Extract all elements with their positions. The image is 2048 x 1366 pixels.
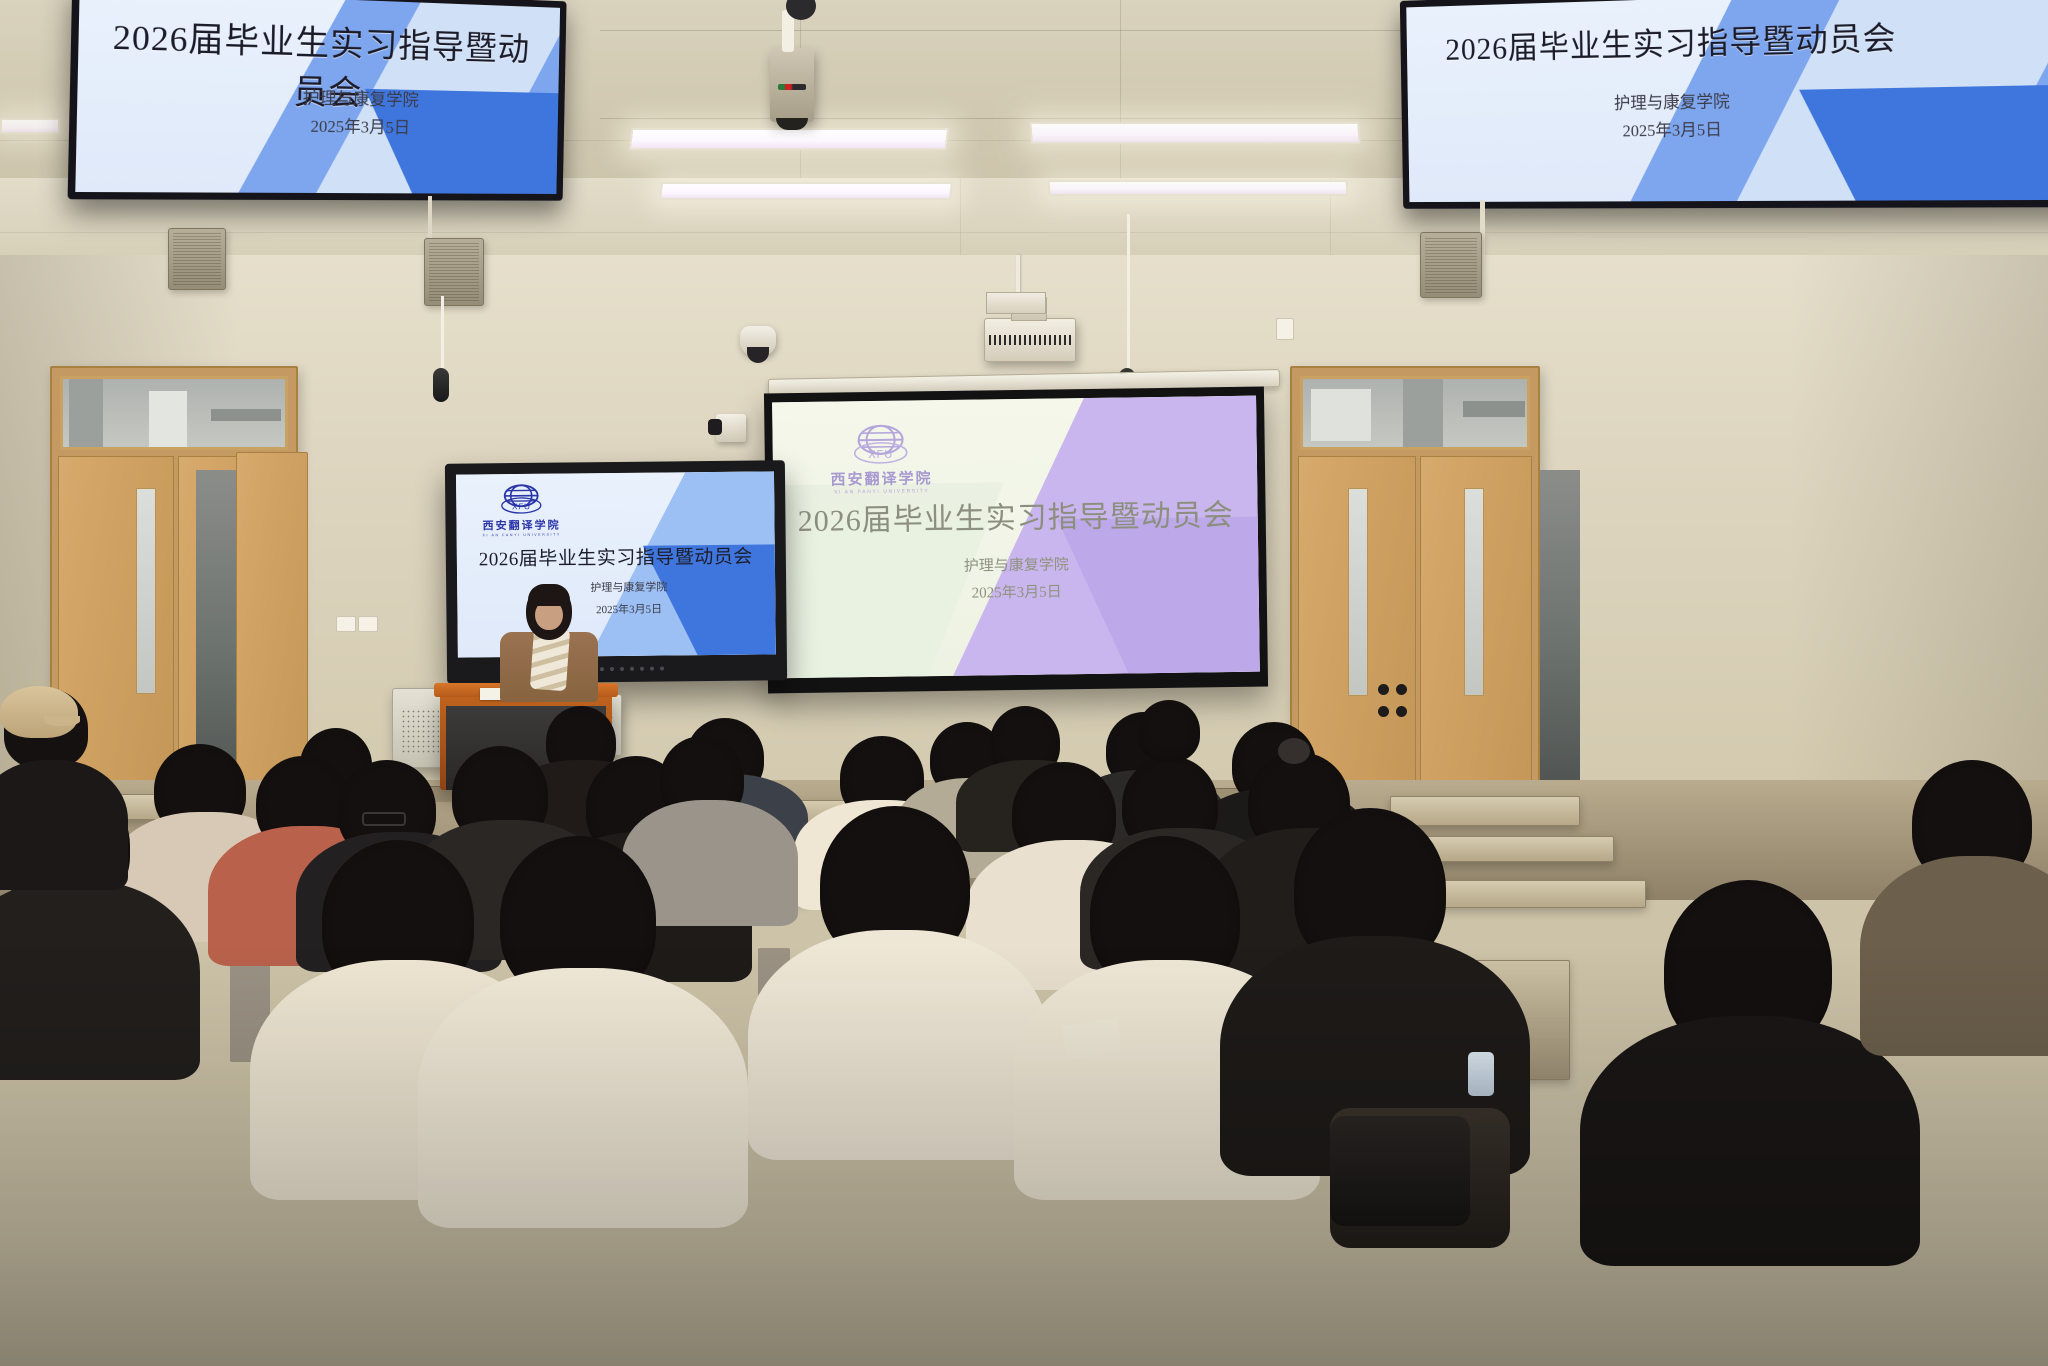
door-transom — [60, 376, 288, 450]
logo-name-cn: 西安翻译学院 — [821, 467, 941, 490]
ceiling-light-panel — [0, 118, 60, 134]
door-transom — [1300, 376, 1530, 450]
audience-shoulders — [1860, 856, 2048, 1056]
audience-shoulders — [0, 760, 128, 890]
ceiling-speaker-leds — [778, 84, 806, 90]
door-vision-lite — [136, 488, 156, 694]
svg-text:XFU: XFU — [512, 502, 531, 511]
projection-screen-surface: XFU 西安翻译学院 XI AN FANYI UNIVERSITY 2026届毕… — [772, 396, 1260, 679]
slide-title: 2026届毕业生实习指导暨动员会 — [469, 541, 762, 571]
door-opening-corridor — [1540, 470, 1580, 800]
door-handle[interactable] — [1396, 706, 1407, 717]
ceiling-light-panel — [1047, 180, 1348, 196]
door-vision-lite — [1464, 488, 1484, 696]
tv-right-panel: 2026届毕业生实习指导暨动员会 护理与康复学院 2025年3月5日 — [1406, 0, 2048, 202]
presenter — [496, 576, 602, 698]
light-switch-plate[interactable] — [358, 616, 378, 632]
projection-screen: XFU 西安翻译学院 XI AN FANYI UNIVERSITY 2026届毕… — [764, 387, 1268, 694]
door-handle[interactable] — [1378, 706, 1389, 717]
globe-icon: XFU — [849, 423, 914, 468]
ceiling-tv-left[interactable]: 2026届毕业生实习指导暨动员会 护理与康复学院 2025年3月5日 — [68, 0, 567, 201]
door-handle[interactable] — [1378, 684, 1389, 695]
slide-title: 2026届毕业生实习指导暨动员会 — [788, 490, 1244, 540]
lecture-hall-photo: 2026届毕业生实习指导暨动员会 护理与康复学院 2025年3月5日 2026届… — [0, 0, 2048, 1366]
bench-row — [1436, 880, 1646, 908]
audience-shoulders — [418, 968, 748, 1228]
box-camera — [716, 414, 746, 442]
door-right[interactable] — [1290, 366, 1540, 818]
microphone-wire — [1127, 214, 1130, 372]
eyeglasses-icon — [362, 812, 406, 826]
audience-shoulders — [0, 880, 200, 1080]
ceiling-light-panel — [659, 182, 953, 200]
slide-title: 2026届毕业生实习指导暨动员会 — [1419, 12, 1927, 71]
wall-speaker — [424, 238, 484, 306]
wall-speaker — [168, 228, 226, 290]
bag-on-seat — [1330, 1116, 1470, 1226]
wall-speaker — [1420, 232, 1482, 298]
audience-shoulders — [748, 930, 1048, 1160]
hanging-microphone — [433, 368, 449, 402]
ceiling-projector — [984, 318, 1076, 362]
ceiling-light-panel — [629, 128, 950, 150]
audience-head — [1138, 700, 1200, 762]
water-bottle — [1468, 1052, 1494, 1096]
microphone-wire — [441, 296, 444, 370]
university-logo: XFU 西安翻译学院 XI AN FANYI UNIVERSITY — [821, 422, 942, 496]
bench-row — [1390, 796, 1580, 826]
svg-text:XFU: XFU — [869, 449, 894, 461]
hair-scrunchie — [1278, 738, 1310, 764]
logo-name-cn: 西安翻译学院 — [476, 517, 568, 534]
baseball-cap — [0, 686, 78, 738]
presenter-head — [526, 584, 572, 640]
slide-date: 2025年3月5日 — [1458, 113, 1900, 144]
dome-camera — [740, 326, 776, 356]
tv-left-panel: 2026届毕业生实习指导暨动员会 护理与康复学院 2025年3月5日 — [75, 0, 560, 194]
ceiling-light-panel — [1029, 122, 1361, 144]
outlet-plate[interactable] — [1276, 318, 1294, 340]
cap-brim — [44, 716, 80, 726]
audience-shoulders — [1580, 1016, 1920, 1266]
logo-name-en: XI AN FANYI UNIVERSITY — [476, 533, 568, 538]
door-vision-lite — [1348, 488, 1368, 696]
door-handle[interactable] — [1396, 684, 1407, 695]
university-logo: XFU 西安翻译学院 XI AN FANYI UNIVERSITY — [475, 483, 568, 538]
ceiling-tv-right[interactable]: 2026届毕业生实习指导暨动员会 护理与康复学院 2025年3月5日 — [1400, 0, 2048, 209]
globe-icon: XFU — [497, 483, 545, 517]
projector-mount-plate — [986, 292, 1046, 314]
light-switch-plate[interactable] — [336, 616, 356, 632]
slide-org: 护理与康复学院 — [1458, 84, 1900, 117]
